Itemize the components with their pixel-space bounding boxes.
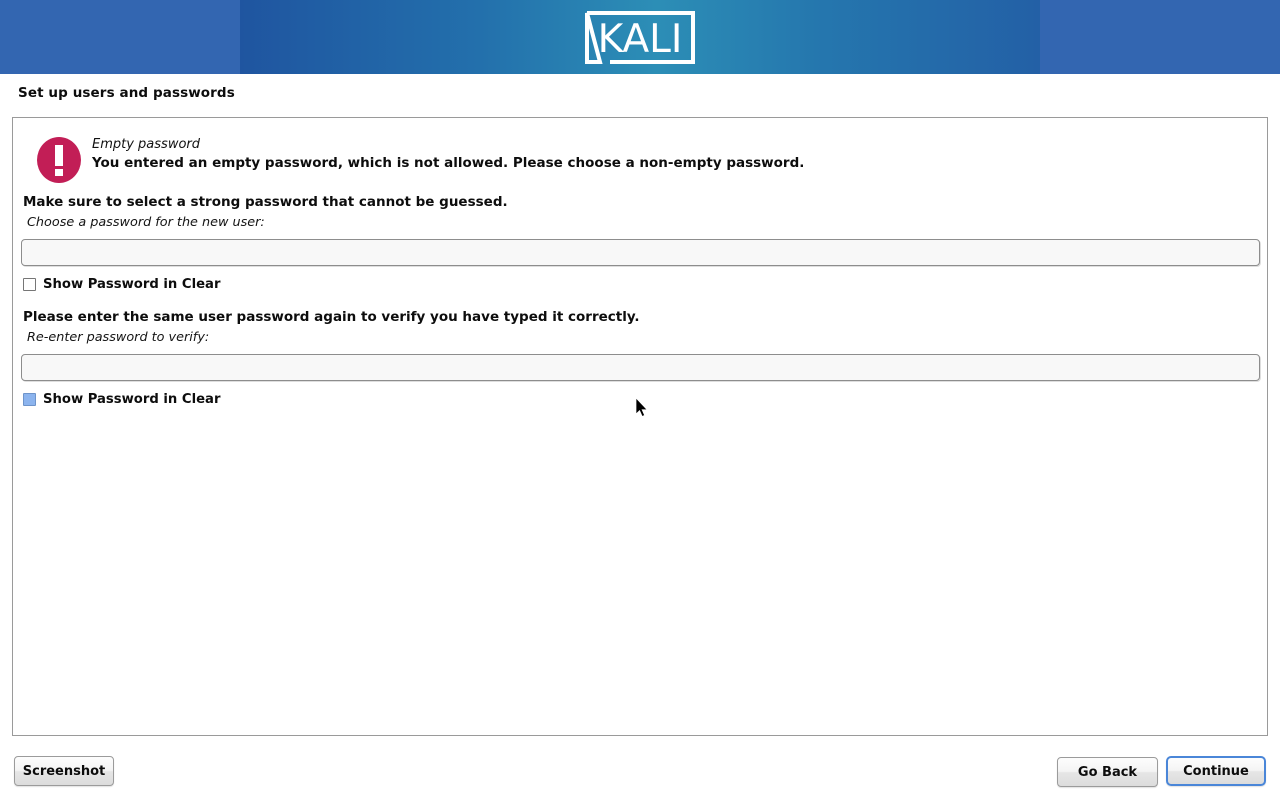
error-block: Empty password You entered an empty pass… bbox=[24, 127, 1254, 189]
content-panel: Empty password You entered an empty pass… bbox=[12, 117, 1268, 736]
page-title: Set up users and passwords bbox=[18, 85, 235, 101]
error-exclamation-icon bbox=[36, 136, 82, 184]
verify-password-input[interactable] bbox=[21, 354, 1260, 381]
go-back-button[interactable]: Go Back bbox=[1057, 757, 1158, 787]
show-password-row-2[interactable]: Show Password in Clear bbox=[23, 390, 220, 408]
show-password-checkbox-1[interactable] bbox=[23, 278, 36, 291]
show-password-row-1[interactable]: Show Password in Clear bbox=[23, 275, 220, 293]
password-field-label: Choose a password for the new user: bbox=[27, 215, 265, 230]
kali-wordmark: KALI bbox=[598, 17, 683, 62]
verify-note: Please enter the same user password agai… bbox=[23, 309, 640, 325]
continue-button[interactable]: Continue bbox=[1166, 756, 1266, 786]
installer-screen: KALI Set up users and passwords Empty pa… bbox=[0, 0, 1280, 800]
error-title: Empty password bbox=[92, 137, 200, 152]
show-password-checkbox-2[interactable] bbox=[23, 393, 36, 406]
show-password-label-1: Show Password in Clear bbox=[43, 277, 220, 292]
show-password-label-2: Show Password in Clear bbox=[43, 392, 220, 407]
strong-password-note: Make sure to select a strong password th… bbox=[23, 194, 508, 210]
verify-field-label: Re-enter password to verify: bbox=[27, 330, 209, 345]
kali-logo: KALI bbox=[583, 9, 697, 66]
kali-banner: KALI bbox=[0, 0, 1280, 74]
screenshot-button[interactable]: Screenshot bbox=[14, 756, 114, 786]
error-message: You entered an empty password, which is … bbox=[92, 155, 804, 171]
password-input[interactable] bbox=[21, 239, 1260, 266]
